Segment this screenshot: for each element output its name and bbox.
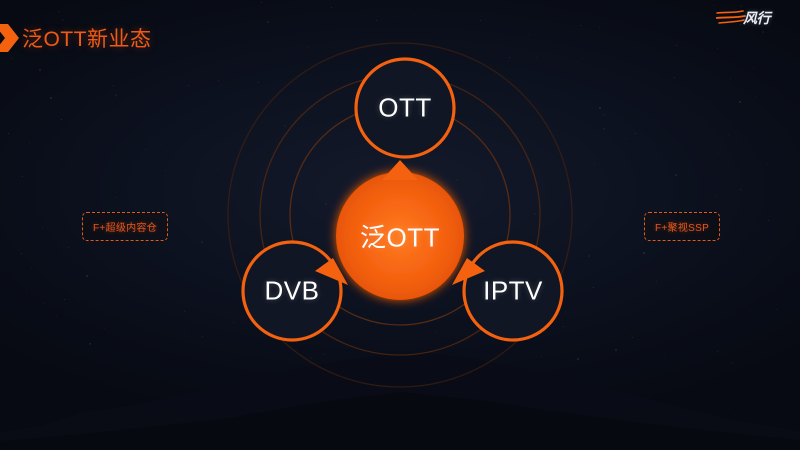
node-circle-iptv[interactable] [464, 242, 562, 340]
logo-text: 风行 [743, 8, 770, 28]
arrow-to-ott [382, 160, 418, 180]
swoosh-icon [716, 8, 746, 28]
title-arrow-icon [0, 22, 20, 54]
tag-super-content-warehouse[interactable]: F+超级内容仓 [82, 212, 168, 241]
node-circle-dvb[interactable] [243, 242, 341, 340]
tag-juishi-ssp[interactable]: F+聚视SSP [644, 212, 720, 241]
node-circle-ott[interactable] [356, 59, 454, 157]
page-title: 泛OTT新业态 [22, 23, 152, 53]
center-circle[interactable] [336, 172, 464, 300]
brand-logo: 风行 [716, 6, 786, 30]
presentation-slide: 泛OTT新业态 风行 [0, 0, 800, 450]
slide-title: 泛OTT新业态 [0, 22, 152, 54]
